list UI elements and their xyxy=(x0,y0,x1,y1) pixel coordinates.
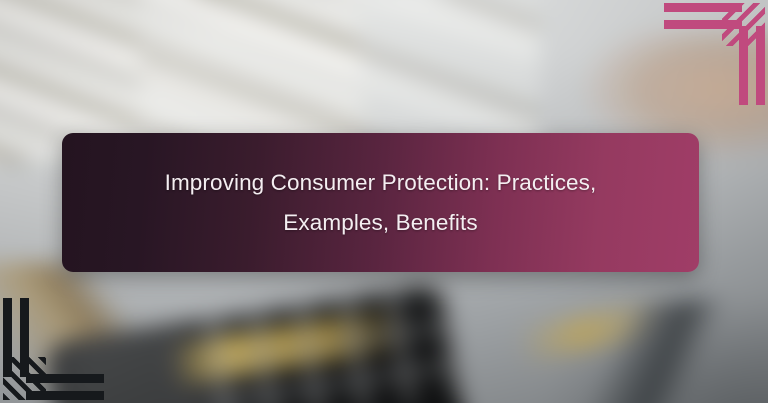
article-banner: Improving Consumer Protection: Practices… xyxy=(0,0,768,403)
top-right-bracket-decoration xyxy=(660,0,768,108)
bracket-hatch-pattern xyxy=(722,3,765,46)
bracket-hatch-pattern xyxy=(3,357,46,400)
title-card: Improving Consumer Protection: Practices… xyxy=(62,133,699,272)
bottom-left-bracket-decoration xyxy=(0,295,108,403)
page-title: Improving Consumer Protection: Practices… xyxy=(131,163,631,243)
